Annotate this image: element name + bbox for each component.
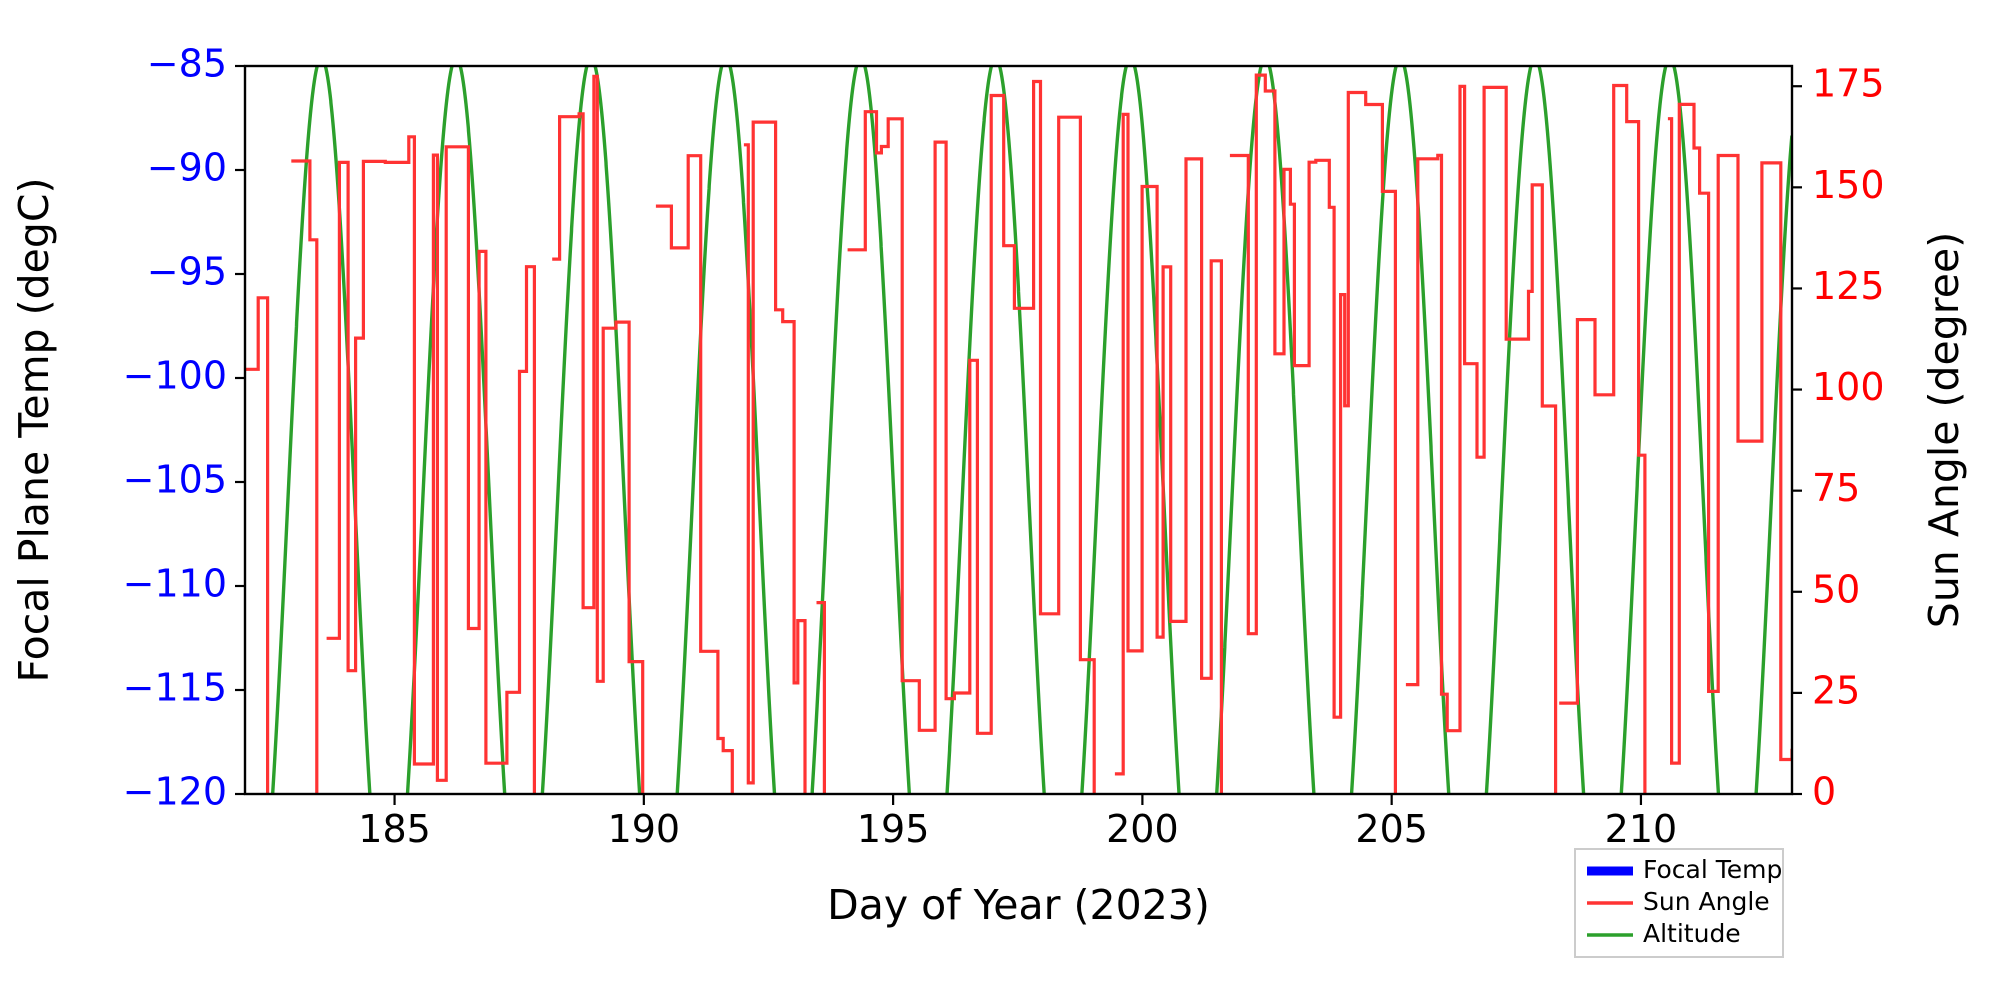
figure-container: −120−115−110−105−100−95−90−85 0255075100…	[0, 0, 2000, 1000]
x-ticklabel: 205	[1355, 807, 1428, 851]
legend-label: Focal Temp	[1643, 855, 1782, 884]
x-ticklabel: 200	[1106, 807, 1179, 851]
x-axis-ticks: 185190195200205210	[358, 794, 1677, 851]
axes-frame	[245, 66, 1792, 794]
y-axis-left-ticks: −120−115−110−105−100−95−90−85	[123, 42, 245, 814]
y-left-ticklabel: −120	[123, 770, 227, 814]
y-axis-right-label: Sun Angle (degree)	[1920, 232, 1968, 628]
y-axis-left-label: Focal Plane Temp (degC)	[10, 178, 58, 683]
chart-legend[interactable]: Focal TempSun AngleAltitude	[1575, 849, 1783, 957]
y-right-ticklabel: 50	[1812, 567, 1860, 611]
series-altitude	[271, 58, 1792, 802]
y-left-ticklabel: −115	[123, 666, 227, 710]
y-left-ticklabel: −110	[123, 562, 227, 606]
y-left-ticklabel: −85	[147, 42, 227, 86]
chart-canvas: −120−115−110−105−100−95−90−85 0255075100…	[0, 0, 2000, 1000]
x-ticklabel: 185	[358, 807, 431, 851]
x-ticklabel: 190	[608, 807, 681, 851]
legend-label: Sun Angle	[1643, 887, 1770, 916]
x-ticklabel: 195	[857, 807, 930, 851]
legend-label: Altitude	[1643, 919, 1741, 948]
y-axis-right-ticks: 0255075100125150175	[1792, 62, 1885, 814]
y-right-ticklabel: 0	[1812, 770, 1836, 814]
x-axis-label: Day of Year (2023)	[827, 881, 1210, 929]
y-right-ticklabel: 100	[1812, 365, 1885, 409]
series-sun-angle	[245, 75, 1792, 798]
y-right-ticklabel: 75	[1812, 466, 1860, 510]
y-right-ticklabel: 150	[1812, 163, 1885, 207]
axes-spines	[245, 66, 1792, 794]
x-ticklabel: 210	[1605, 807, 1678, 851]
plot-curves	[245, 58, 1792, 802]
y-right-ticklabel: 125	[1812, 264, 1885, 308]
y-left-ticklabel: −100	[123, 354, 227, 398]
y-right-ticklabel: 25	[1812, 668, 1860, 712]
y-left-ticklabel: −90	[147, 146, 227, 190]
y-left-ticklabel: −95	[147, 250, 227, 294]
y-left-ticklabel: −105	[123, 458, 227, 502]
y-right-ticklabel: 175	[1812, 62, 1885, 106]
